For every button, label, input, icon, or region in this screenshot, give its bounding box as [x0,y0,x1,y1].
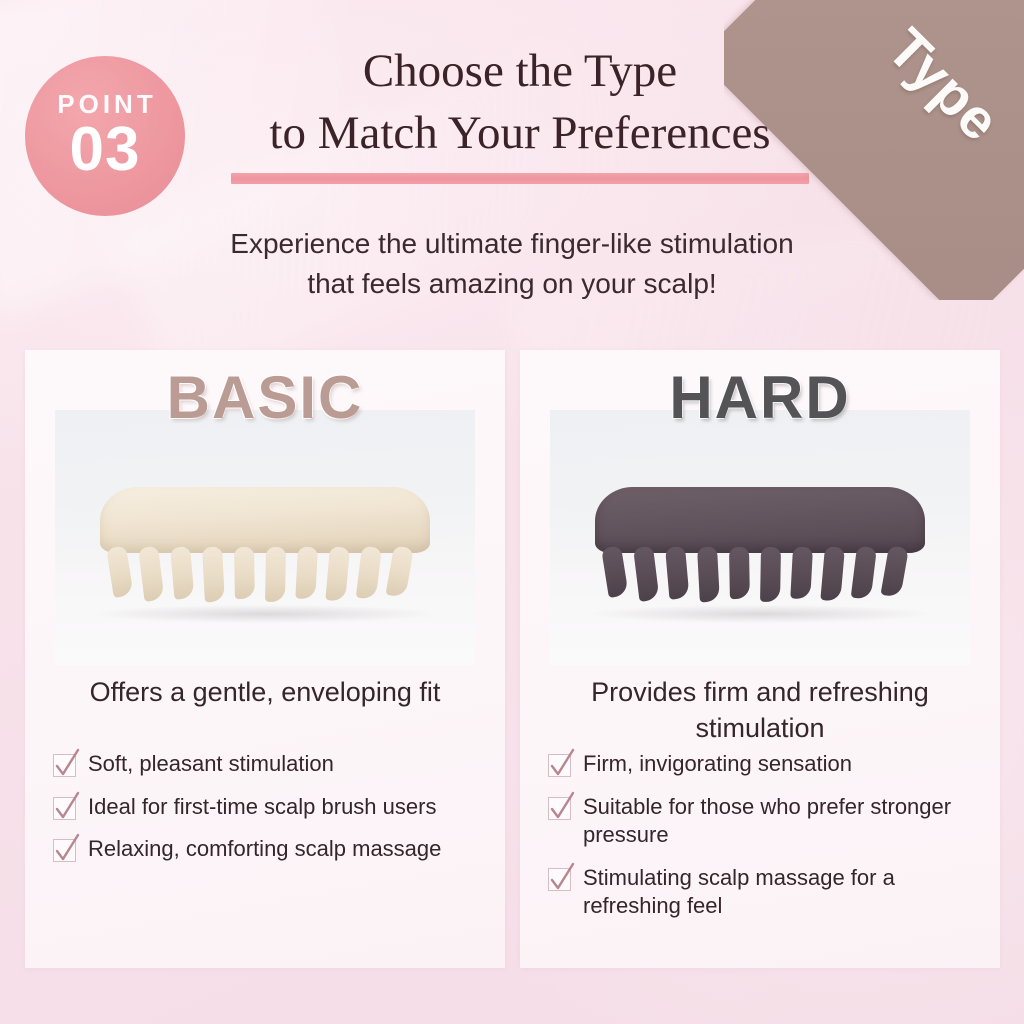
product-photo-hard [550,410,970,665]
feature-text: Firm, invigorating sensation [583,750,852,779]
brush-prong [138,546,164,602]
brush-prong [820,546,845,602]
title-underline [231,173,809,184]
brush-prong [202,546,225,602]
product-type-label-hard: HARD [520,368,1000,428]
infographic-page: Type POINT 03 Choose the Type to Match Y… [0,0,1024,1024]
scalp-brush-illustration [100,487,430,607]
checkbox-check-icon [548,797,571,820]
checkbox-check-icon [53,797,76,820]
brush-prong [601,545,629,598]
checkbox-check-icon [548,754,571,777]
product-type-cards: BASIC [0,350,1024,970]
brush-prong [633,546,659,602]
brush-prong [385,545,413,598]
brush-prongs [106,547,424,607]
brush-prong [356,546,382,600]
scalp-brush-illustration [595,487,925,607]
card-headline-basic: Offers a gentle, enveloping fit [47,675,483,711]
brush-prong [325,546,350,602]
feature-list-basic: Soft, pleasant stimulation Ideal for fir… [53,750,485,878]
card-headline-hard: Provides firm and refreshing stimulation [542,675,978,746]
brush-prong [234,547,255,599]
product-card-basic: BASIC [25,350,505,968]
feature-item: Stimulating scalp massage for a refreshi… [548,864,980,921]
brush-prong [790,546,813,599]
checkbox-check-icon [53,839,76,862]
point-badge: POINT 03 [25,56,185,216]
brush-prong [170,546,194,600]
corner-ribbon: Type [724,0,1024,300]
point-badge-word: POINT [53,91,156,117]
product-type-label-basic: BASIC [25,368,505,428]
product-card-hard: HARD [520,350,1000,968]
feature-item: Relaxing, comforting scalp massage [53,835,485,864]
feature-item: Soft, pleasant stimulation [53,750,485,779]
feature-text: Stimulating scalp massage for a refreshi… [583,864,980,921]
feature-item: Suitable for those who prefer stronger p… [548,793,980,850]
brush-body [100,487,430,553]
feature-text: Ideal for first-time scalp brush users [88,793,436,822]
checkbox-check-icon [53,754,76,777]
point-badge-number: 03 [70,119,141,181]
brush-prong [106,545,134,598]
brush-prong [760,547,781,602]
feature-item: Firm, invigorating sensation [548,750,980,779]
feature-list-hard: Firm, invigorating sensation Suitable fo… [548,750,980,935]
feature-text: Relaxing, comforting scalp massage [88,835,441,864]
brush-prong [665,546,689,600]
checkbox-check-icon [548,868,571,891]
brush-prong [729,547,750,599]
brush-prongs [601,547,919,607]
feature-text: Soft, pleasant stimulation [88,750,334,779]
feature-text: Suitable for those who prefer stronger p… [583,793,980,850]
brush-prong [880,545,908,598]
brush-shadow [589,605,931,623]
brush-prong [851,546,877,600]
brush-shadow [94,605,436,623]
product-photo-basic [55,410,475,665]
ribbon-triangle [724,0,1024,300]
feature-item: Ideal for first-time scalp brush users [53,793,485,822]
brush-body [595,487,925,553]
brush-prong [265,547,286,602]
brush-prong [295,546,318,599]
brush-prong [697,546,720,602]
